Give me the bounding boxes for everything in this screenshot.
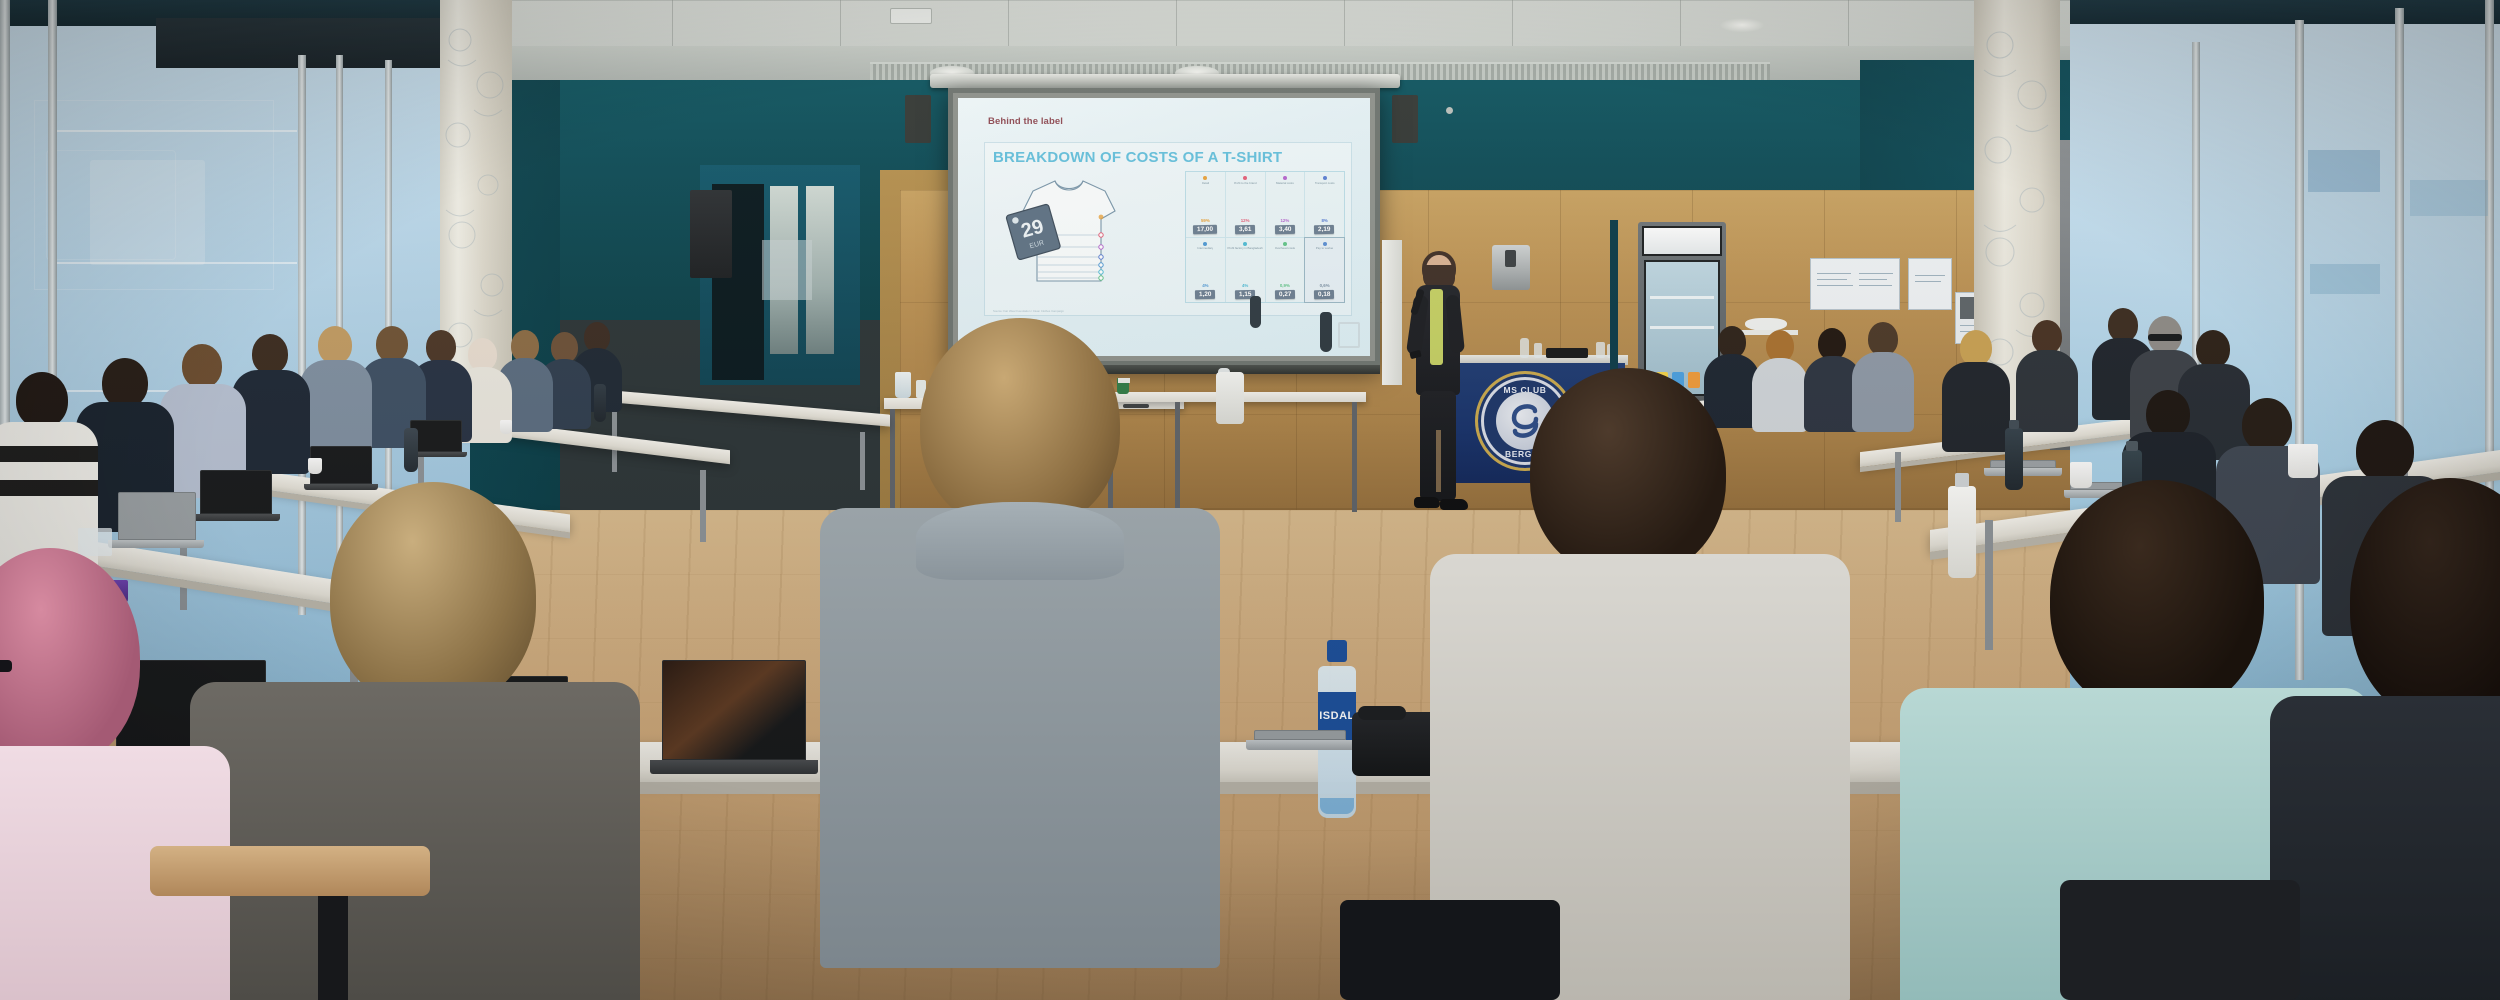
insulated-bottle — [1948, 486, 1976, 578]
cost-card: Profit to the brand12%3,61 — [1226, 172, 1265, 237]
whiteboard-edge — [1382, 240, 1402, 385]
presenter-scarf — [1430, 289, 1443, 365]
wall-speaker-left — [690, 190, 732, 278]
water-bottle — [1520, 338, 1529, 358]
card-color-dot — [1323, 176, 1327, 180]
card-label: Pay to worker — [1316, 247, 1334, 255]
card-percent: 4% — [1202, 283, 1208, 288]
presenter — [1408, 255, 1468, 525]
sweater-stripe — [0, 480, 98, 496]
paper-cup — [2288, 444, 2318, 478]
card-label: Profit to the brand — [1234, 182, 1257, 190]
paper-cup — [500, 420, 512, 434]
card-label: Material costs — [1276, 182, 1294, 190]
water-bottle — [1250, 296, 1261, 328]
insulated-bottle — [1216, 372, 1244, 424]
cost-breakdown-cards: Retail59%17,00Profit to the brand12%3,61… — [1185, 171, 1345, 303]
lecture-room-photo: Behind the label BREAKDOWN OF COSTS OF A… — [0, 0, 2500, 1000]
presenter-shoe-right — [1440, 499, 1468, 510]
cost-card: Pay to worker0,6%0,18 — [1305, 238, 1344, 303]
audience-table — [600, 389, 890, 426]
fridge-item — [1688, 372, 1700, 388]
water-bottle — [404, 428, 418, 472]
ceiling-speaker-right — [1392, 95, 1418, 143]
card-label: Retail — [1202, 182, 1209, 190]
slide-footnote: Source: Fair Wear Foundation / Clean Clo… — [993, 309, 1064, 313]
wall-poster — [762, 240, 812, 300]
card-label: Transport costs — [1315, 182, 1335, 190]
slide-kicker: Behind the label — [988, 116, 1063, 127]
window-reflection-glow — [90, 160, 205, 265]
card-percent: 4% — [1242, 283, 1248, 288]
card-percent: 8% — [1321, 218, 1327, 223]
water-bottle — [1320, 312, 1332, 352]
wooden-chair-back[interactable] — [150, 846, 430, 896]
card-color-dot — [1323, 242, 1327, 246]
card-label: Overhead costs — [1275, 247, 1295, 255]
bag-handle — [1358, 706, 1406, 720]
cost-card: Intermediary4%1,20 — [1186, 238, 1225, 303]
water-bottle — [2005, 428, 2023, 490]
pen — [1123, 404, 1149, 408]
card-color-dot — [1203, 242, 1207, 246]
cost-card: Material costs12%3,40 — [1266, 172, 1305, 237]
card-color-dot — [1283, 176, 1287, 180]
card-value: 3,61 — [1235, 224, 1256, 233]
slide-title: BREAKDOWN OF COSTS OF A T-SHIRT — [993, 149, 1282, 166]
tshirt-icon: 29 EUR — [989, 169, 1149, 309]
ceiling-speaker-left — [905, 95, 931, 143]
card-color-dot — [1283, 242, 1287, 246]
paper-towel-dispenser — [1492, 245, 1530, 290]
card-percent: 59% — [1201, 218, 1210, 223]
water-jug — [895, 372, 911, 398]
card-color-dot — [1243, 176, 1247, 180]
isdal-water-bottle: ISDAL — [1318, 640, 1356, 818]
paper-cup — [308, 458, 322, 474]
bottle-brand-label: ISDAL — [1319, 710, 1355, 722]
building-outside — [2310, 264, 2380, 294]
secondary-logo-icon — [1338, 322, 1360, 348]
cost-card: Overhead costs0,9%0,27 — [1266, 238, 1305, 303]
drinking-glass — [78, 528, 112, 556]
eyeglasses-icon — [2148, 334, 2182, 341]
card-value: 0,18 — [1314, 290, 1335, 299]
card-percent: 0,6% — [1320, 283, 1330, 288]
ceiling-sensor — [890, 8, 932, 24]
wall-notice-poster — [1810, 258, 1900, 310]
laptop-closed — [1546, 348, 1588, 358]
roller-blind-box — [156, 18, 476, 68]
wall-notice-poster — [1908, 258, 1952, 310]
card-value: 17,00 — [1193, 224, 1217, 234]
water-bottle — [594, 384, 606, 422]
chair-back-dark[interactable] — [1340, 900, 1560, 1000]
fridge-shelf — [1650, 326, 1714, 329]
card-label: Profit factory in Bangladesh — [1227, 247, 1262, 255]
building-outside — [2410, 180, 2488, 216]
cost-card: Transport costs8%2,19 — [1305, 172, 1344, 237]
card-value: 3,40 — [1275, 224, 1296, 233]
card-label: Intermediary — [1197, 247, 1213, 255]
chair-frame[interactable] — [318, 896, 348, 1000]
window-head-frame-right — [2070, 0, 2500, 24]
card-value: 2,19 — [1314, 224, 1335, 233]
card-percent: 0,9% — [1280, 283, 1290, 288]
card-color-dot — [1203, 176, 1207, 180]
turtleneck-collar — [916, 502, 1124, 580]
fridge-lightbox — [1642, 226, 1722, 256]
paper-cup — [2070, 462, 2092, 488]
card-value: 0,27 — [1275, 290, 1296, 299]
presenter-leg-gap — [1436, 430, 1441, 492]
card-percent: 12% — [1280, 218, 1289, 223]
drinking-glass — [1596, 342, 1605, 358]
card-value: 1,20 — [1195, 290, 1216, 299]
tshirt-illustration: 29 EUR — [989, 169, 1149, 309]
fridge-shelf — [1650, 296, 1714, 299]
chair-back-dark[interactable] — [2060, 880, 2300, 1000]
projector-screen-housing — [930, 74, 1400, 88]
sweater-stripe — [0, 446, 98, 462]
card-color-dot — [1243, 242, 1247, 246]
card-percent: 12% — [1241, 218, 1250, 223]
building-outside — [2308, 150, 2380, 192]
slide-content-panel: BREAKDOWN OF COSTS OF A T-SHIRT — [984, 142, 1352, 316]
presenter-shoe-left — [1414, 497, 1440, 508]
cup-lid — [1118, 378, 1130, 383]
cost-card: Retail59%17,00 — [1186, 172, 1225, 237]
wall-camera-icon — [1446, 107, 1453, 114]
drinking-glass — [1534, 343, 1542, 358]
cost-card: Profit factory in Bangladesh4%1,15 — [1226, 238, 1265, 303]
ceiling-downlight — [1720, 18, 1764, 32]
eyeglasses-icon — [0, 660, 12, 672]
